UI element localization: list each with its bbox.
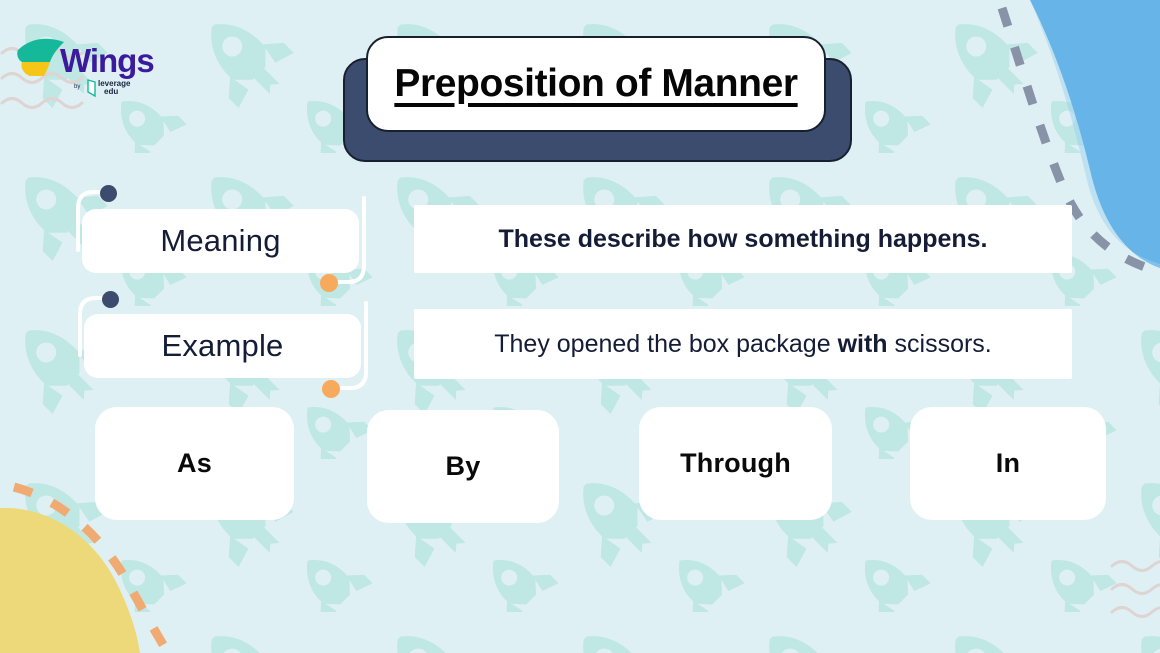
- content-example: They opened the box package with scissor…: [494, 330, 992, 359]
- wings-logo-icon: Wings by leverage edu: [12, 28, 162, 98]
- example-prefix: They opened the box package: [494, 330, 837, 358]
- navy-dot-example: [102, 291, 119, 308]
- word-label-by: By: [446, 451, 481, 482]
- word-chip-as[interactable]: As: [95, 407, 294, 520]
- example-highlight: with: [838, 330, 888, 358]
- label-example: Example: [161, 328, 283, 364]
- title-card: Preposition of Manner: [366, 36, 826, 132]
- word-chip-in[interactable]: In: [910, 407, 1106, 520]
- svg-text:Wings: Wings: [60, 42, 154, 79]
- content-card-example: They opened the box package with scissor…: [414, 309, 1072, 379]
- orange-dot-example: [322, 380, 340, 398]
- orange-dot-meaning: [320, 274, 338, 292]
- navy-dot-meaning: [100, 185, 117, 202]
- svg-text:edu: edu: [104, 87, 118, 96]
- content-card-meaning: These describe how something happens.: [414, 205, 1072, 273]
- word-chip-through[interactable]: Through: [639, 407, 832, 520]
- content-meaning: These describe how something happens.: [499, 225, 988, 254]
- word-label-in: In: [996, 448, 1020, 479]
- label-meaning: Meaning: [160, 223, 280, 259]
- page-title: Preposition of Manner: [394, 62, 797, 106]
- example-suffix: scissors.: [888, 330, 992, 358]
- wings-logo[interactable]: Wings by leverage edu: [12, 28, 162, 98]
- word-label-as: As: [177, 448, 212, 479]
- infographic-canvas: Wings by leverage edu Preposition of Man…: [0, 0, 1160, 653]
- svg-text:by: by: [74, 84, 80, 90]
- word-chip-by[interactable]: By: [367, 410, 559, 523]
- label-card-example: Example: [84, 314, 361, 378]
- label-card-meaning: Meaning: [82, 209, 359, 273]
- page-title-group: Preposition of Manner: [338, 36, 852, 162]
- word-label-through: Through: [680, 448, 791, 479]
